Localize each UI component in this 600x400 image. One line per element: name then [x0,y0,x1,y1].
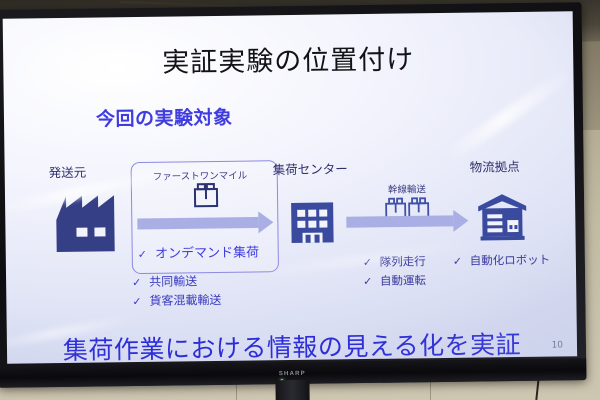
check-icon: ✓ [132,295,141,308]
screen-surface: 実証実験の位置付け 今回の実験対象 発送元 ファーストワンマイル [3,11,577,363]
checklist-item-label: 隊列走行 [380,254,426,269]
display-monitor: SHARP 実証実験の位置付け 今回の実験対象 発送元 [0,2,586,388]
checklist-item: ✓ 共同輸送 [132,272,197,290]
flow-arrow-first-mile [137,211,273,235]
node-label-logistics-base: 物流拠点 [470,156,520,176]
presentation-slide: 実証実験の位置付け 今回の実験対象 発送元 ファーストワンマイル [3,11,577,363]
checklist-item: ✓ 自動化ロボット [453,252,551,269]
checklist-item: ✓ 貨客混載輸送 [132,291,221,309]
warehouse-icon [476,192,529,243]
photo-scene: SHARP 実証実験の位置付け 今回の実験対象 発送元 [0,0,600,400]
checklist-item-label: 自動化ロボット [470,253,551,268]
checklist-item-label: オンデマンド集荷 [155,245,259,261]
flow-arrow-trunk-line [346,210,468,234]
check-icon: ✓ [138,248,147,261]
checklist-item: ✓ 隊列走行 [363,253,426,270]
node-label-collection-center: 集荷センター [273,158,348,178]
checklist-item: ✓ 自動運転 [363,272,426,289]
checklist-item-label: 貨客混載輸送 [149,293,221,308]
checklist-item-label: 自動運転 [380,273,426,288]
check-icon: ✓ [363,256,372,269]
check-icon: ✓ [453,255,462,268]
slide-subtitle: 今回の実験対象 [96,103,233,132]
check-icon: ✓ [132,276,141,289]
check-icon: ✓ [363,275,372,288]
office-building-icon [289,200,336,245]
checklist-item: ✓ オンデマンド集荷 [138,241,260,262]
monitor-stand [275,380,309,400]
segment-label-first-one-mile: ファーストワンマイル [153,168,248,183]
page-number: 10 [551,340,563,350]
segment-label-trunk-line: 幹線輸送 [388,181,426,195]
factory-icon [54,193,117,254]
page-title: 実証実験の位置付け [3,35,573,81]
brand-logo: SHARP [279,371,306,377]
checklist-item-label: 共同輸送 [149,274,197,289]
package-box-icon [193,182,219,208]
node-label-origin: 発送元 [49,162,87,181]
